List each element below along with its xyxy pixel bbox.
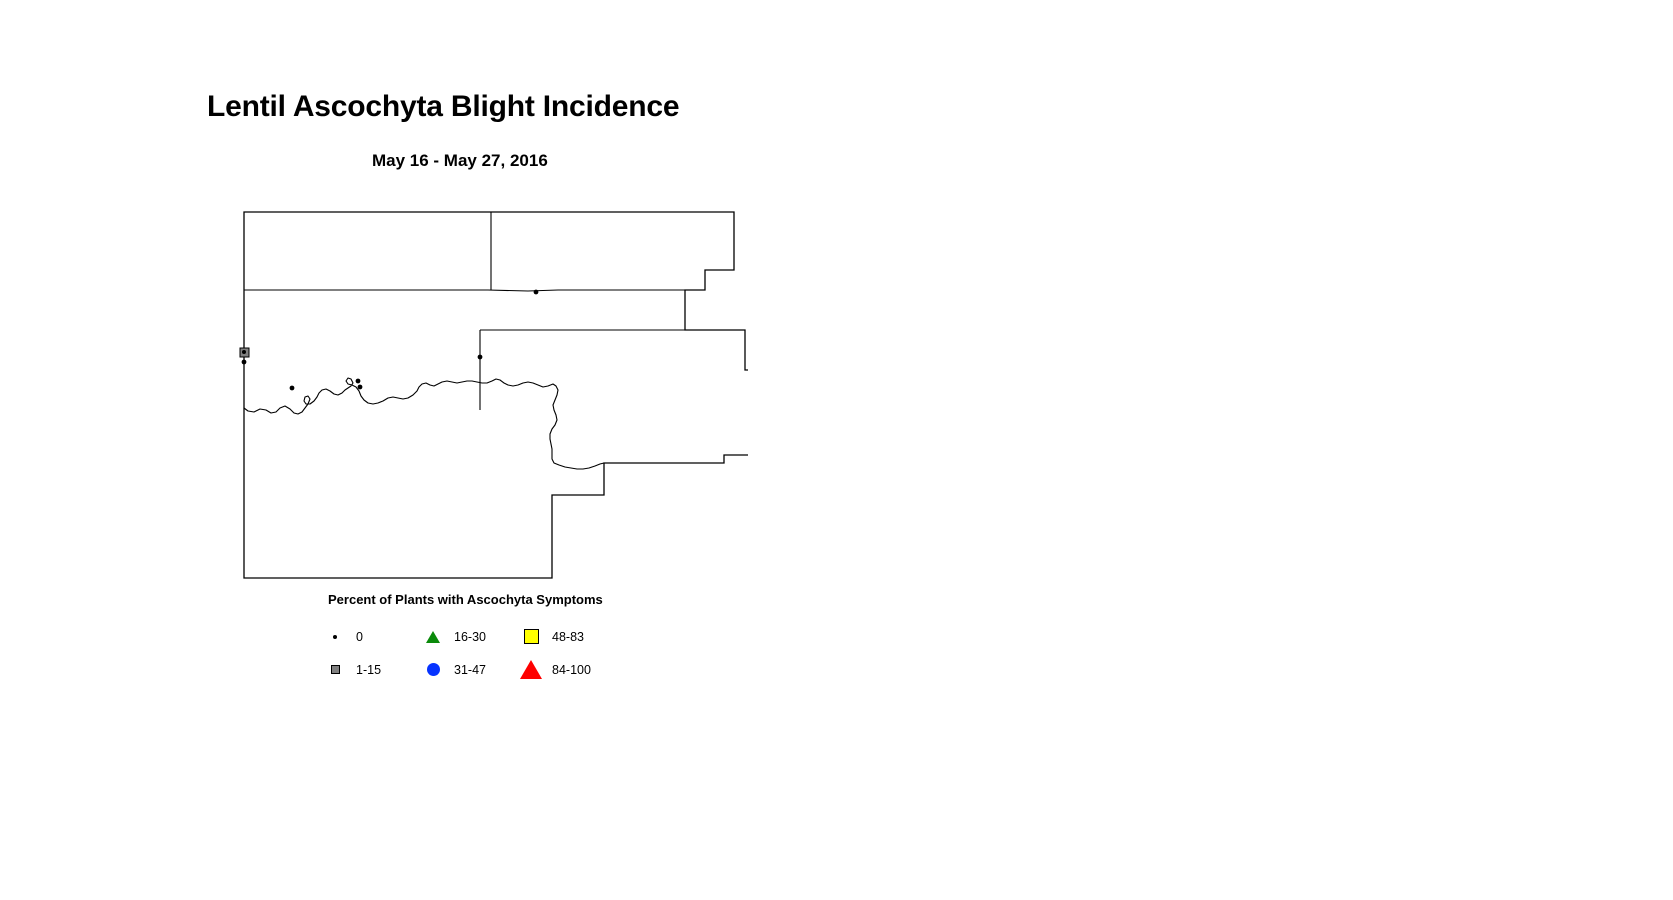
page-subtitle: May 16 - May 27, 2016: [372, 151, 548, 171]
legend-item-0[interactable]: 0: [320, 630, 418, 644]
square-gray-icon: [320, 665, 350, 674]
legend-label: 84-100: [546, 663, 591, 677]
map-region-outline: [244, 212, 748, 578]
legend-row-bottom: 1-15 31-47 84-100: [320, 653, 680, 686]
region-map: [238, 205, 748, 590]
legend-label: 0: [350, 630, 363, 644]
map-point-dot[interactable]: [356, 379, 361, 384]
map-point-dot[interactable]: [242, 350, 246, 354]
legend-item-31-47[interactable]: 31-47: [418, 663, 516, 677]
legend-label: 48-83: [546, 630, 584, 644]
legend-item-1-15[interactable]: 1-15: [320, 663, 418, 677]
map-point-dot[interactable]: [242, 360, 247, 365]
legend-item-16-30[interactable]: 16-30: [418, 630, 516, 644]
map-point-dot[interactable]: [358, 385, 363, 390]
legend-item-84-100[interactable]: 84-100: [516, 660, 616, 679]
circle-blue-icon: [418, 663, 448, 676]
legend-item-48-83[interactable]: 48-83: [516, 629, 616, 644]
legend-title: Percent of Plants with Ascochyta Symptom…: [320, 592, 680, 607]
dot-icon: [320, 635, 350, 639]
square-yellow-icon: [516, 629, 546, 644]
triangle-green-icon: [418, 631, 448, 643]
legend-label: 1-15: [350, 663, 381, 677]
map-point-dot[interactable]: [478, 355, 483, 360]
legend-row-top: 0 16-30 48-83: [320, 620, 680, 653]
legend-label: 31-47: [448, 663, 486, 677]
legend-rows: 0 16-30 48-83: [320, 620, 680, 686]
map-point-dot[interactable]: [290, 386, 295, 391]
figure-canvas: Lentil Ascochyta Blight Incidence May 16…: [0, 0, 1673, 900]
map-point-dot[interactable]: [534, 290, 539, 295]
triangle-red-icon: [516, 660, 546, 679]
legend: Percent of Plants with Ascochyta Symptom…: [320, 592, 680, 686]
map-panel: [238, 205, 748, 590]
page-title: Lentil Ascochyta Blight Incidence: [207, 90, 679, 124]
legend-label: 16-30: [448, 630, 486, 644]
